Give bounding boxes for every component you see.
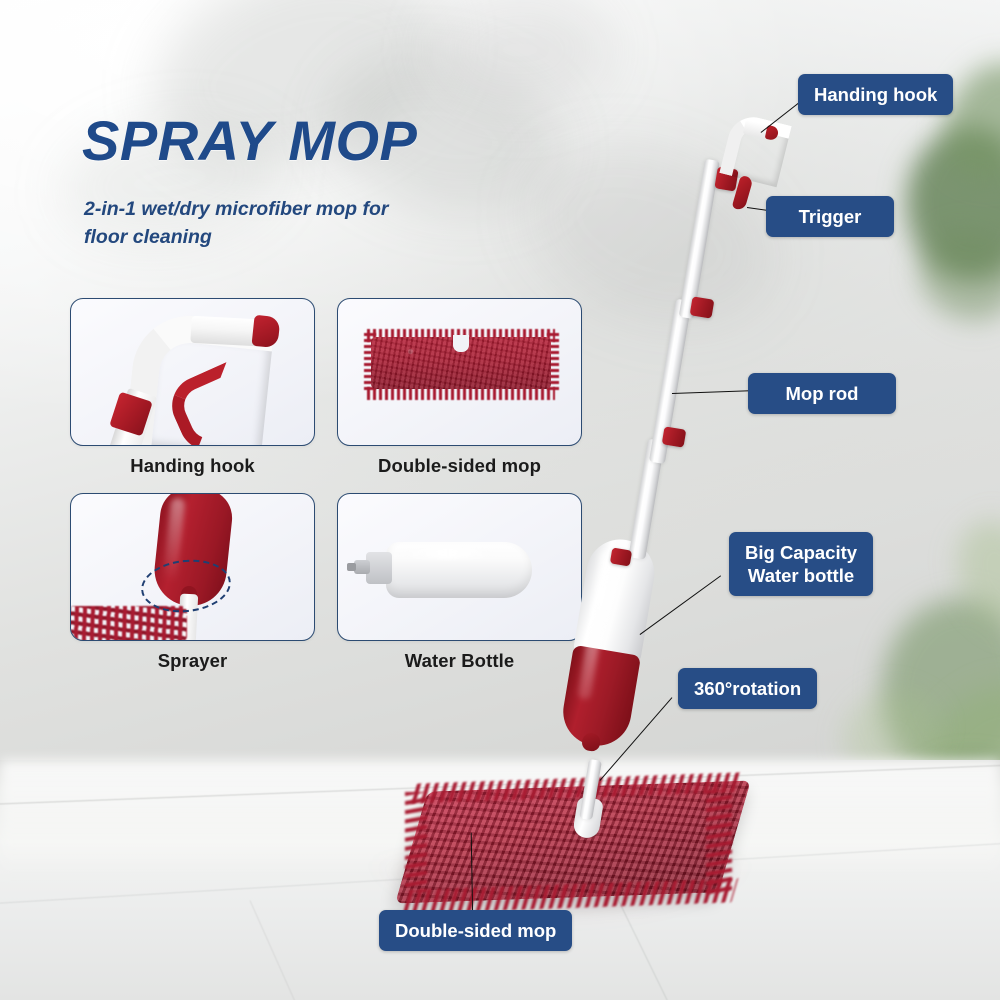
product-infographic: SPRAY MOP 2-in-1 wet/dry microfiber mop … [0,0,1000,1000]
card-image-water-bottle [337,493,582,641]
foliage-leaf [934,50,1000,189]
foliage-leaf [903,208,1000,341]
foliage-leaf [902,661,1000,850]
mop-head-fringe [706,790,732,894]
leader-line-handing-hook [761,100,803,133]
feature-card-grid: Handing hook Double-sided mop [70,298,582,688]
leader-line-water-bottle [640,575,722,635]
callout-360-rotation[interactable]: 360°rotation [678,668,817,709]
feature-card-row: Handing hook Double-sided mop [70,298,582,477]
bottle-upper-half [573,534,660,664]
callout-water-bottle[interactable]: Big Capacity Water bottle [729,532,873,596]
wall-shadow [430,0,610,110]
page-title: SPRAY MOP [82,108,417,173]
floor-surface [0,760,1000,1000]
feature-card-caption: Water Bottle [337,650,582,672]
floor-grout-line [0,839,1000,906]
mop-rod-segment [628,439,665,560]
callout-double-sided-mop[interactable]: Double-sided mop [379,910,572,951]
rod-collar [714,166,738,191]
bottle-highlight [577,550,615,700]
rod-collar [690,296,715,318]
leader-line-mop-head [470,833,473,917]
floor-grout-line [560,780,710,1000]
feature-card-double-sided-mop[interactable]: Double-sided mop [337,298,582,477]
feature-card-water-bottle[interactable]: Water Bottle [337,493,582,672]
leader-line-rotation [599,697,672,781]
feature-card-handing-hook[interactable]: Handing hook [70,298,315,477]
mop-head-fringe [405,792,427,892]
card-image-handing-hook [70,298,315,446]
leader-line-mop-rod [672,390,750,394]
feature-card-row: Sprayer Water Bottle [70,493,582,672]
bottle-nozzle [581,732,602,753]
mop-head [395,780,751,903]
card-image-sprayer [70,493,315,641]
trigger-lever [732,175,754,211]
swivel-joint [572,796,604,840]
foliage-leaf [887,751,1000,899]
foliage-leaf [831,676,948,793]
feature-card-caption: Double-sided mop [337,455,582,477]
callout-trigger[interactable]: Trigger [766,196,894,237]
mop-head-fringe [403,878,738,913]
feature-card-caption: Sprayer [70,650,315,672]
card-image-double-sided-mop [337,298,582,446]
bottle-highlight [400,548,496,559]
floor-sheen [0,760,1000,880]
floor-grout-line [0,762,1000,806]
rod-collar [610,547,632,566]
foliage-leaf [863,586,1000,793]
callout-mop-rod[interactable]: Mop rod [748,373,896,414]
feature-card-sprayer[interactable]: Sprayer [70,493,315,672]
feature-card-caption: Handing hook [70,455,315,477]
mop-pad-notch-icon [453,335,469,352]
rod-collar [662,426,687,447]
handing-hook [719,112,791,187]
foliage-leaf [936,507,1000,643]
mop-head-fringe [411,772,740,803]
bottle-valve-icon [347,563,356,571]
foliage-leaf [879,110,1000,301]
mop-rod-segment [679,159,720,319]
hook-tip-icon [251,315,280,349]
page-subtitle: 2-in-1 wet/dry microfiber mop for floor … [84,196,414,251]
mop-rod-lower-segment [579,759,602,820]
floor-grout-line [250,900,332,1000]
mop-rod-segment [649,299,692,464]
callout-handing-hook[interactable]: Handing hook [798,74,953,115]
bottle-stem-icon [354,560,370,574]
